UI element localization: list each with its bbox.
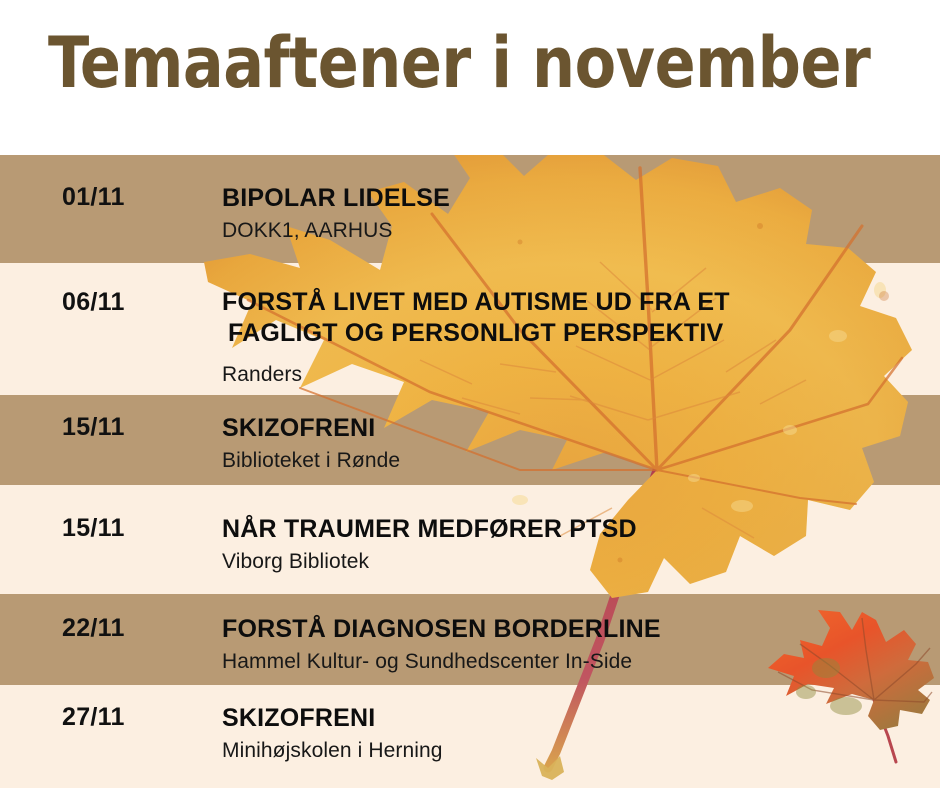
event-title: SKIZOFRENI bbox=[222, 413, 375, 444]
event-venue: Minihøjskolen i Herning bbox=[222, 740, 443, 761]
event-row[interactable]: 27/11 SKIZOFRENI Minihøjskolen i Herning bbox=[0, 685, 940, 788]
event-title-line2: FAGLIGT OG PERSONLIGT PERSPEKTIV bbox=[222, 318, 730, 349]
event-date: 27/11 bbox=[62, 705, 125, 730]
event-title: NÅR TRAUMER MEDFØRER PTSD bbox=[222, 514, 637, 545]
event-row[interactable]: 06/11 FORSTÅ LIVET MED AUTISME UD FRA ET… bbox=[0, 263, 940, 395]
event-row[interactable]: 01/11 BIPOLAR LIDELSE DOKK1, AARHUS bbox=[0, 155, 940, 263]
event-venue: Biblioteket i Rønde bbox=[222, 450, 400, 471]
event-venue: Viborg Bibliotek bbox=[222, 551, 369, 572]
page-title: Temaaftener i november bbox=[48, 28, 870, 98]
event-venue: Randers bbox=[222, 364, 302, 385]
event-date: 01/11 bbox=[62, 185, 125, 210]
event-row[interactable]: 15/11 NÅR TRAUMER MEDFØRER PTSD Viborg B… bbox=[0, 485, 940, 594]
event-title: SKIZOFRENI bbox=[222, 703, 375, 734]
event-date: 22/11 bbox=[62, 616, 125, 641]
poster-canvas: Temaaftener i november 01/11 BIPOLAR LID… bbox=[0, 0, 940, 788]
event-venue: Hammel Kultur- og Sundhedscenter In-Side bbox=[222, 651, 632, 672]
event-date: 15/11 bbox=[62, 415, 125, 440]
event-title: FORSTÅ DIAGNOSEN BORDERLINE bbox=[222, 614, 661, 645]
event-date: 06/11 bbox=[62, 290, 125, 315]
event-date: 15/11 bbox=[62, 516, 125, 541]
event-title-line1: FORSTÅ LIVET MED AUTISME UD FRA ET bbox=[222, 288, 730, 316]
poster-header: Temaaftener i november bbox=[0, 0, 940, 155]
event-title: BIPOLAR LIDELSE bbox=[222, 183, 450, 214]
event-row[interactable]: 22/11 FORSTÅ DIAGNOSEN BORDERLINE Hammel… bbox=[0, 594, 940, 685]
event-title: FORSTÅ LIVET MED AUTISME UD FRA ET FAGLI… bbox=[222, 287, 730, 349]
event-row[interactable]: 15/11 SKIZOFRENI Biblioteket i Rønde bbox=[0, 395, 940, 485]
event-venue: DOKK1, AARHUS bbox=[222, 220, 393, 241]
